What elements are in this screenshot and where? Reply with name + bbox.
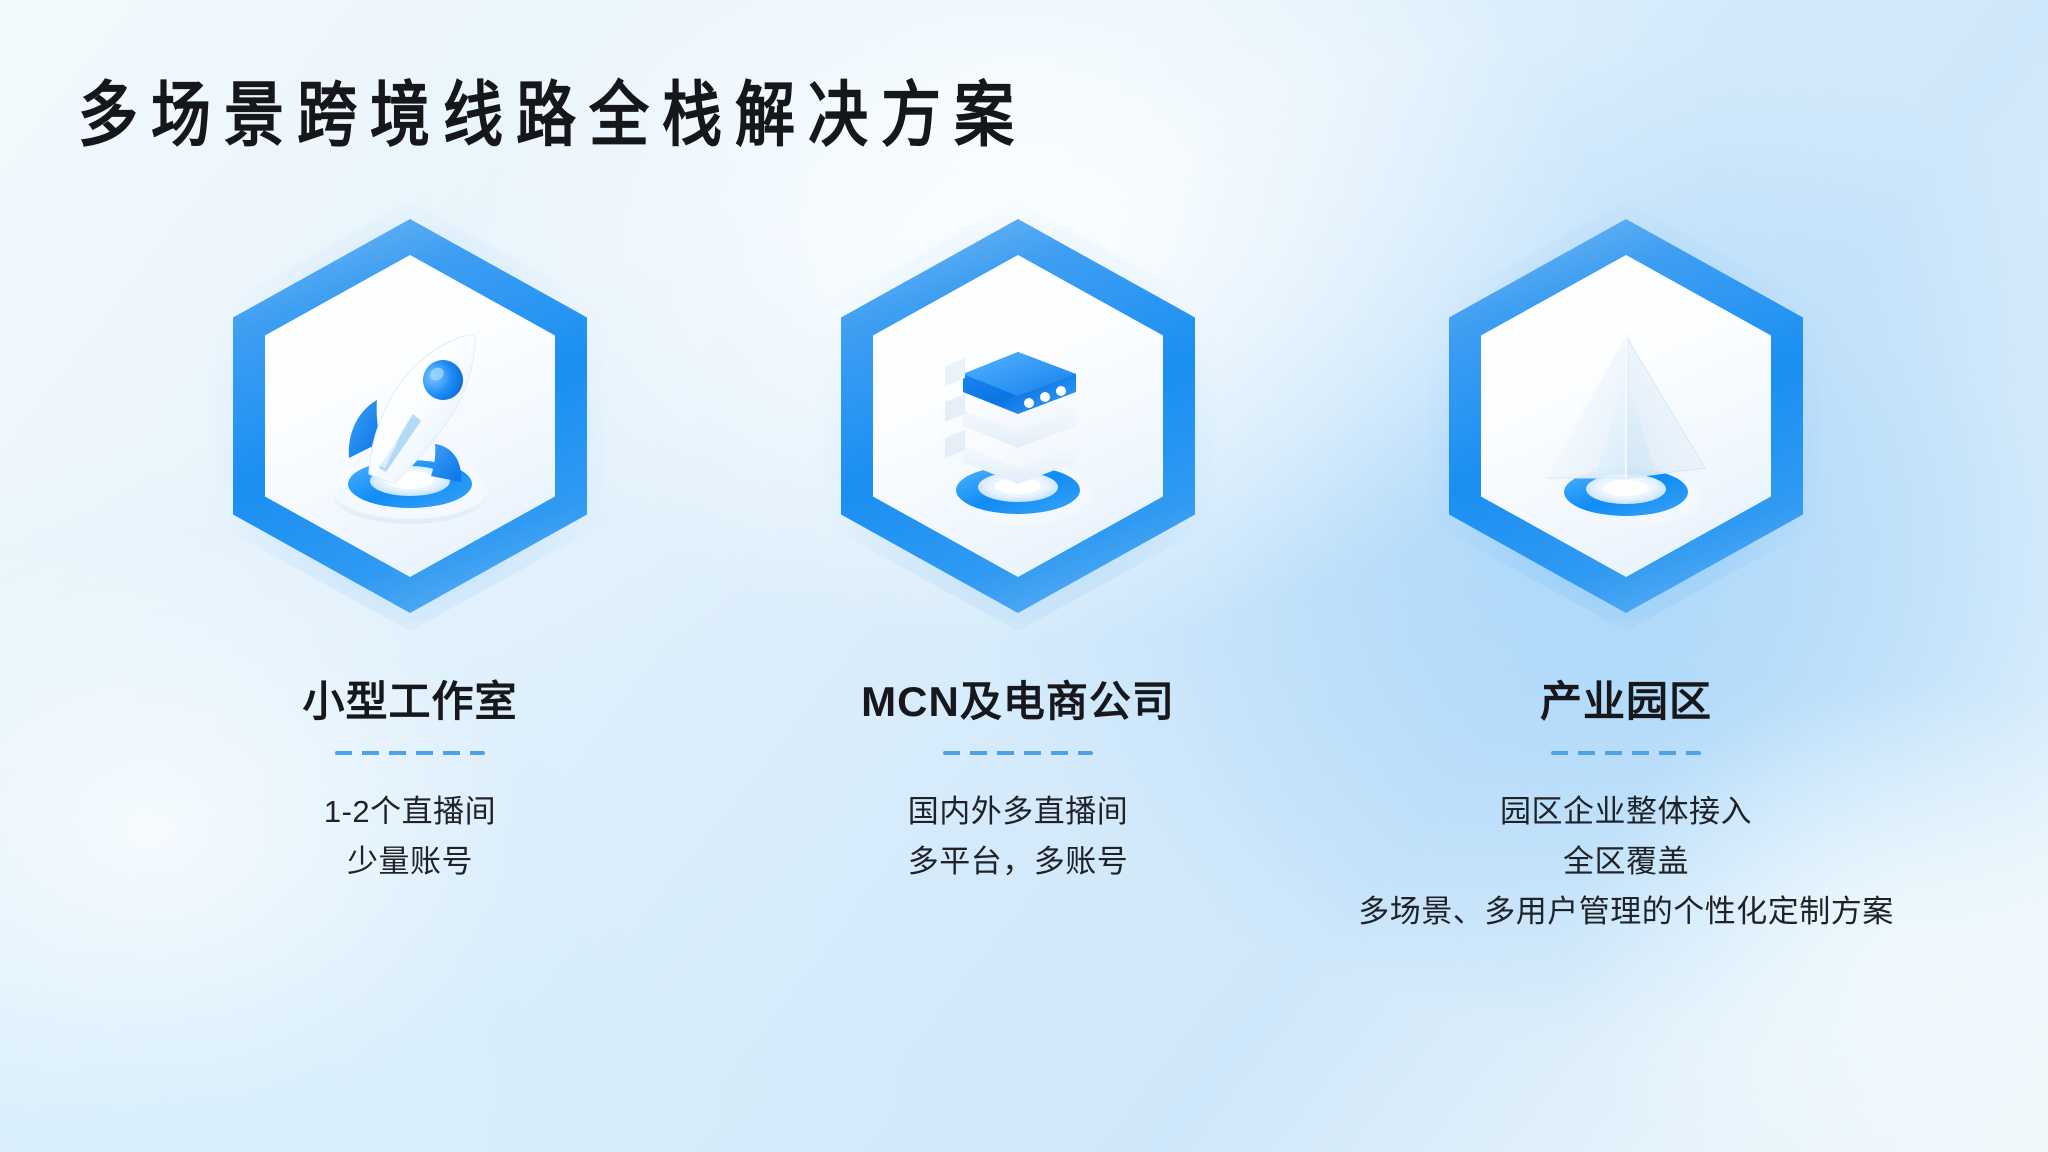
scenario-card-park[interactable]: 产业园区 园区企业整体接入 全区覆盖 多场景、多用户管理的个性化定制方案 bbox=[1346, 210, 1906, 938]
card-line: 园区企业整体接入 bbox=[1358, 787, 1894, 837]
poster-canvas: 多场景跨境线路全栈解决方案 bbox=[0, 0, 2048, 1152]
card-title: 小型工作室 bbox=[302, 668, 517, 729]
hexagon-badge bbox=[1438, 210, 1814, 622]
card-line: 1-2个直播间 bbox=[324, 787, 496, 837]
card-list: 小型工作室 1-2个直播间 少量账号 bbox=[0, 210, 2048, 938]
server-stack-icon bbox=[893, 296, 1143, 546]
card-line: 国内外多直播间 bbox=[908, 787, 1129, 837]
scenario-card-studio[interactable]: 小型工作室 1-2个直播间 少量账号 bbox=[130, 210, 690, 938]
hexagon-badge bbox=[830, 210, 1206, 622]
card-line: 多平台，多账号 bbox=[908, 837, 1129, 887]
rocket-icon bbox=[285, 296, 535, 546]
card-line: 少量账号 bbox=[324, 837, 496, 887]
card-description: 国内外多直播间 多平台，多账号 bbox=[908, 787, 1129, 887]
card-divider bbox=[335, 751, 485, 755]
glass-pyramid-icon bbox=[1501, 296, 1751, 546]
card-divider bbox=[1551, 751, 1701, 755]
page-title: 多场景跨境线路全栈解决方案 bbox=[78, 58, 1027, 161]
card-line: 多场景、多用户管理的个性化定制方案 bbox=[1358, 887, 1894, 937]
card-title: MCN及电商公司 bbox=[861, 668, 1175, 729]
card-divider bbox=[943, 751, 1093, 755]
hexagon-badge bbox=[222, 210, 598, 622]
card-description: 园区企业整体接入 全区覆盖 多场景、多用户管理的个性化定制方案 bbox=[1358, 787, 1894, 938]
scenario-card-mcn[interactable]: MCN及电商公司 国内外多直播间 多平台，多账号 bbox=[738, 210, 1298, 938]
card-description: 1-2个直播间 少量账号 bbox=[324, 787, 496, 887]
card-title: 产业园区 bbox=[1540, 668, 1712, 729]
card-line: 全区覆盖 bbox=[1358, 837, 1894, 887]
